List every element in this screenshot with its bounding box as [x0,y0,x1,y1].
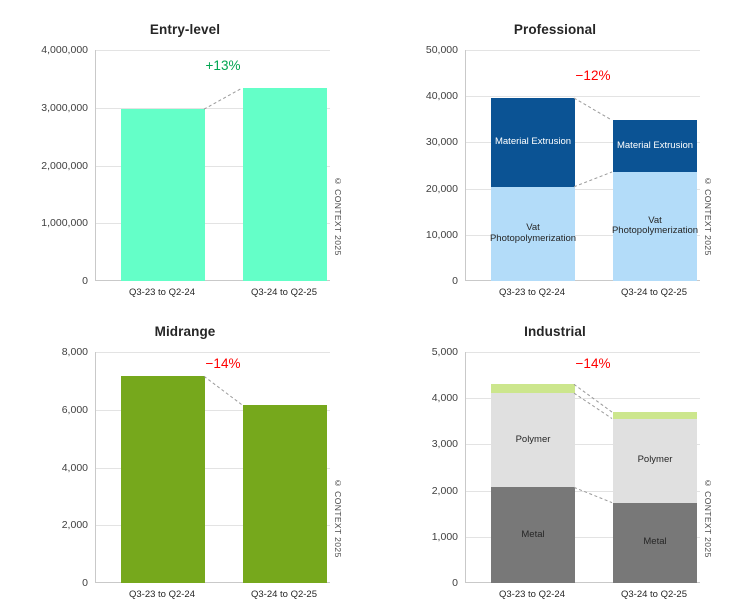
bar-segment-metal: Metal [491,487,575,583]
y-axis-tick-label: 0 [452,275,458,287]
x-axis-category-label: Q3-24 to Q2-25 [234,589,334,600]
panel-title: Midrange [0,324,370,339]
delta-annotation: −14% [565,356,621,371]
segment-label: Metal [519,530,546,541]
y-axis-tick-label: 0 [82,275,88,287]
plot-area [95,50,330,281]
x-axis-category-label: Q3-23 to Q2-24 [482,287,582,298]
y-axis-tick-label: 10,000 [426,229,458,241]
bar-entry-level-1 [243,88,327,281]
y-axis-tick-label: 6,000 [62,404,88,416]
x-axis-category-label: Q3-23 to Q2-24 [112,589,212,600]
y-axis-tick-label: 50,000 [426,44,458,56]
x-axis-category-label: Q3-24 to Q2-25 [604,287,704,298]
bar-midrange-1 [243,405,327,583]
segment-label: Polymer [636,455,675,466]
segment-label: Vat Photopolymerization [610,216,700,238]
copyright-watermark: © CONTEXT 2025 [703,478,713,558]
copyright-watermark: © CONTEXT 2025 [703,176,713,256]
plot-area: MetalPolymerMetalPolymer [465,352,700,583]
bar-midrange-0 [121,376,205,583]
segment-label: Polymer [514,435,553,446]
x-axis-category-label: Q3-24 to Q2-25 [604,589,704,600]
bar-segment-material-extrusion: Material Extrusion [613,120,697,172]
bar-segment-polymer: Polymer [613,419,697,503]
panel-title: Professional [370,22,740,37]
segment-label: Material Extrusion [493,137,573,148]
x-axis-category-label: Q3-24 to Q2-25 [234,287,334,298]
y-axis-tick-label: 4,000,000 [41,44,88,56]
y-axis-tick-label: 4,000 [432,392,458,404]
bar-industrial-1: MetalPolymer [613,412,697,583]
bar-segment-entry-level [243,88,327,281]
panel-title: Industrial [370,324,740,339]
bar-segment-midrange [121,376,205,583]
bar-professional-0: Vat PhotopolymerizationMaterial Extrusio… [491,98,575,281]
bar-segment-material-extrusion: Material Extrusion [491,98,575,187]
x-axis-category-label: Q3-23 to Q2-24 [112,287,212,298]
y-axis-tick-label: 0 [82,577,88,589]
gridline [96,50,330,51]
y-axis-tick-label: 2,000 [432,485,458,497]
bar-segment-metal: Metal [613,503,697,583]
gridline [466,352,700,353]
y-axis-tick-label: 30,000 [426,136,458,148]
y-axis-tick-label: 20,000 [426,183,458,195]
chart-grid: Entry-level01,000,0002,000,0003,000,0004… [0,0,740,605]
panel-midrange: Midrange02,0004,0006,0008,000−14%Q3-23 t… [0,302,370,604]
bar-segment-entry-level [121,109,205,281]
bar-segment-other [491,384,575,393]
panel-industrial: IndustrialMetalPolymerMetalPolymer01,000… [370,302,740,604]
y-axis-tick-label: 1,000,000 [41,217,88,229]
delta-annotation: −12% [565,68,621,83]
panel-entry-level: Entry-level01,000,0002,000,0003,000,0004… [0,0,370,302]
gridline [466,50,700,51]
y-axis-tick-label: 4,000 [62,462,88,474]
segment-label: Material Extrusion [615,141,695,152]
y-axis-tick-label: 3,000 [432,438,458,450]
bar-professional-1: Vat PhotopolymerizationMaterial Extrusio… [613,120,697,281]
bar-segment-other [613,412,697,418]
y-axis-tick-label: 2,000 [62,519,88,531]
segment-label: Metal [641,537,668,548]
copyright-watermark: © CONTEXT 2025 [333,478,343,558]
plot-area: Vat PhotopolymerizationMaterial Extrusio… [465,50,700,281]
y-axis-tick-label: 1,000 [432,531,458,543]
delta-annotation: −14% [195,356,251,371]
bar-segment-midrange [243,405,327,583]
y-axis-tick-label: 8,000 [62,346,88,358]
y-axis-tick-label: 40,000 [426,90,458,102]
y-axis-tick-label: 0 [452,577,458,589]
y-axis-tick-label: 5,000 [432,346,458,358]
bar-segment-vat-photopolymerization: Vat Photopolymerization [613,172,697,281]
y-axis-tick-label: 2,000,000 [41,160,88,172]
gridline [466,96,700,97]
segment-label: Vat Photopolymerization [488,223,578,245]
copyright-watermark: © CONTEXT 2025 [333,176,343,256]
bar-segment-vat-photopolymerization: Vat Photopolymerization [491,187,575,281]
gridline [96,352,330,353]
delta-annotation: +13% [195,58,251,73]
x-axis-category-label: Q3-23 to Q2-24 [482,589,582,600]
bar-entry-level-0 [121,109,205,281]
panel-title: Entry-level [0,22,370,37]
bar-industrial-0: MetalPolymer [491,384,575,583]
bar-segment-polymer: Polymer [491,393,575,487]
plot-area [95,352,330,583]
y-axis-tick-label: 3,000,000 [41,102,88,114]
panel-professional: ProfessionalVat PhotopolymerizationMater… [370,0,740,302]
